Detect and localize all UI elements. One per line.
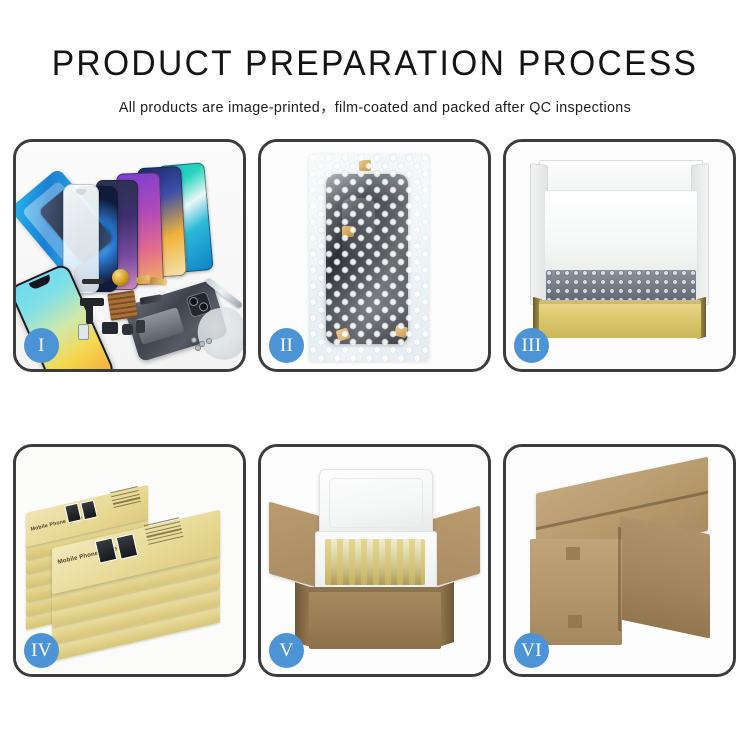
process-step-panel-4[interactable]: Mobile Phone Spare Parts Mobile Phone Sp… — [13, 444, 246, 677]
carton-tape-icon — [566, 547, 580, 560]
screws-icon — [192, 338, 214, 350]
process-step-panel-6[interactable]: VI — [503, 444, 736, 677]
step-badge-3: III — [514, 328, 549, 363]
carton-flap-left-icon — [269, 502, 321, 589]
process-step-panel-3[interactable]: III — [503, 139, 736, 372]
bubble-wrap-layer-icon — [546, 270, 696, 302]
sim-tray-icon — [78, 324, 89, 340]
small-component-icon — [102, 322, 118, 334]
foam-sheet-icon — [544, 190, 698, 274]
step-badge-4: IV — [24, 633, 59, 668]
carton-side-icon — [620, 515, 710, 638]
inner-boxes-icon — [325, 539, 425, 585]
yellow-box-front-icon — [539, 300, 701, 338]
step-badge-2: II — [269, 328, 304, 363]
step-badge-1: I — [24, 328, 59, 363]
process-step-panel-5[interactable]: V — [258, 444, 491, 677]
small-component-icon — [136, 320, 145, 333]
carton-corner-seam-icon — [618, 527, 621, 632]
process-step-panel-2[interactable]: II — [258, 139, 491, 372]
bubble-wrap-bag-icon — [309, 154, 429, 361]
page-subtitle: All products are image-printed，film-coat… — [0, 84, 750, 117]
plastic-sheen-icon — [309, 154, 429, 361]
step-badge-5: V — [269, 633, 304, 668]
flex-cable-icon — [86, 304, 93, 324]
step-badge-6: VI — [514, 633, 549, 668]
page-title: PRODUCT PREPARATION PROCESS — [15, 0, 735, 84]
screw-tray-icon — [107, 290, 137, 320]
speaker-coil-icon — [112, 269, 129, 286]
carton-tape-icon — [568, 615, 582, 628]
carton-front-icon — [309, 587, 441, 649]
small-component-icon — [122, 324, 133, 335]
foam-lid-icon — [319, 469, 433, 537]
page-header: PRODUCT PREPARATION PROCESS All products… — [0, 0, 750, 117]
flex-strip-icon — [82, 279, 104, 284]
process-panel-grid: I II III — [13, 139, 737, 677]
gold-connector-icon — [150, 277, 168, 286]
process-step-panel-1[interactable]: I — [13, 139, 246, 372]
